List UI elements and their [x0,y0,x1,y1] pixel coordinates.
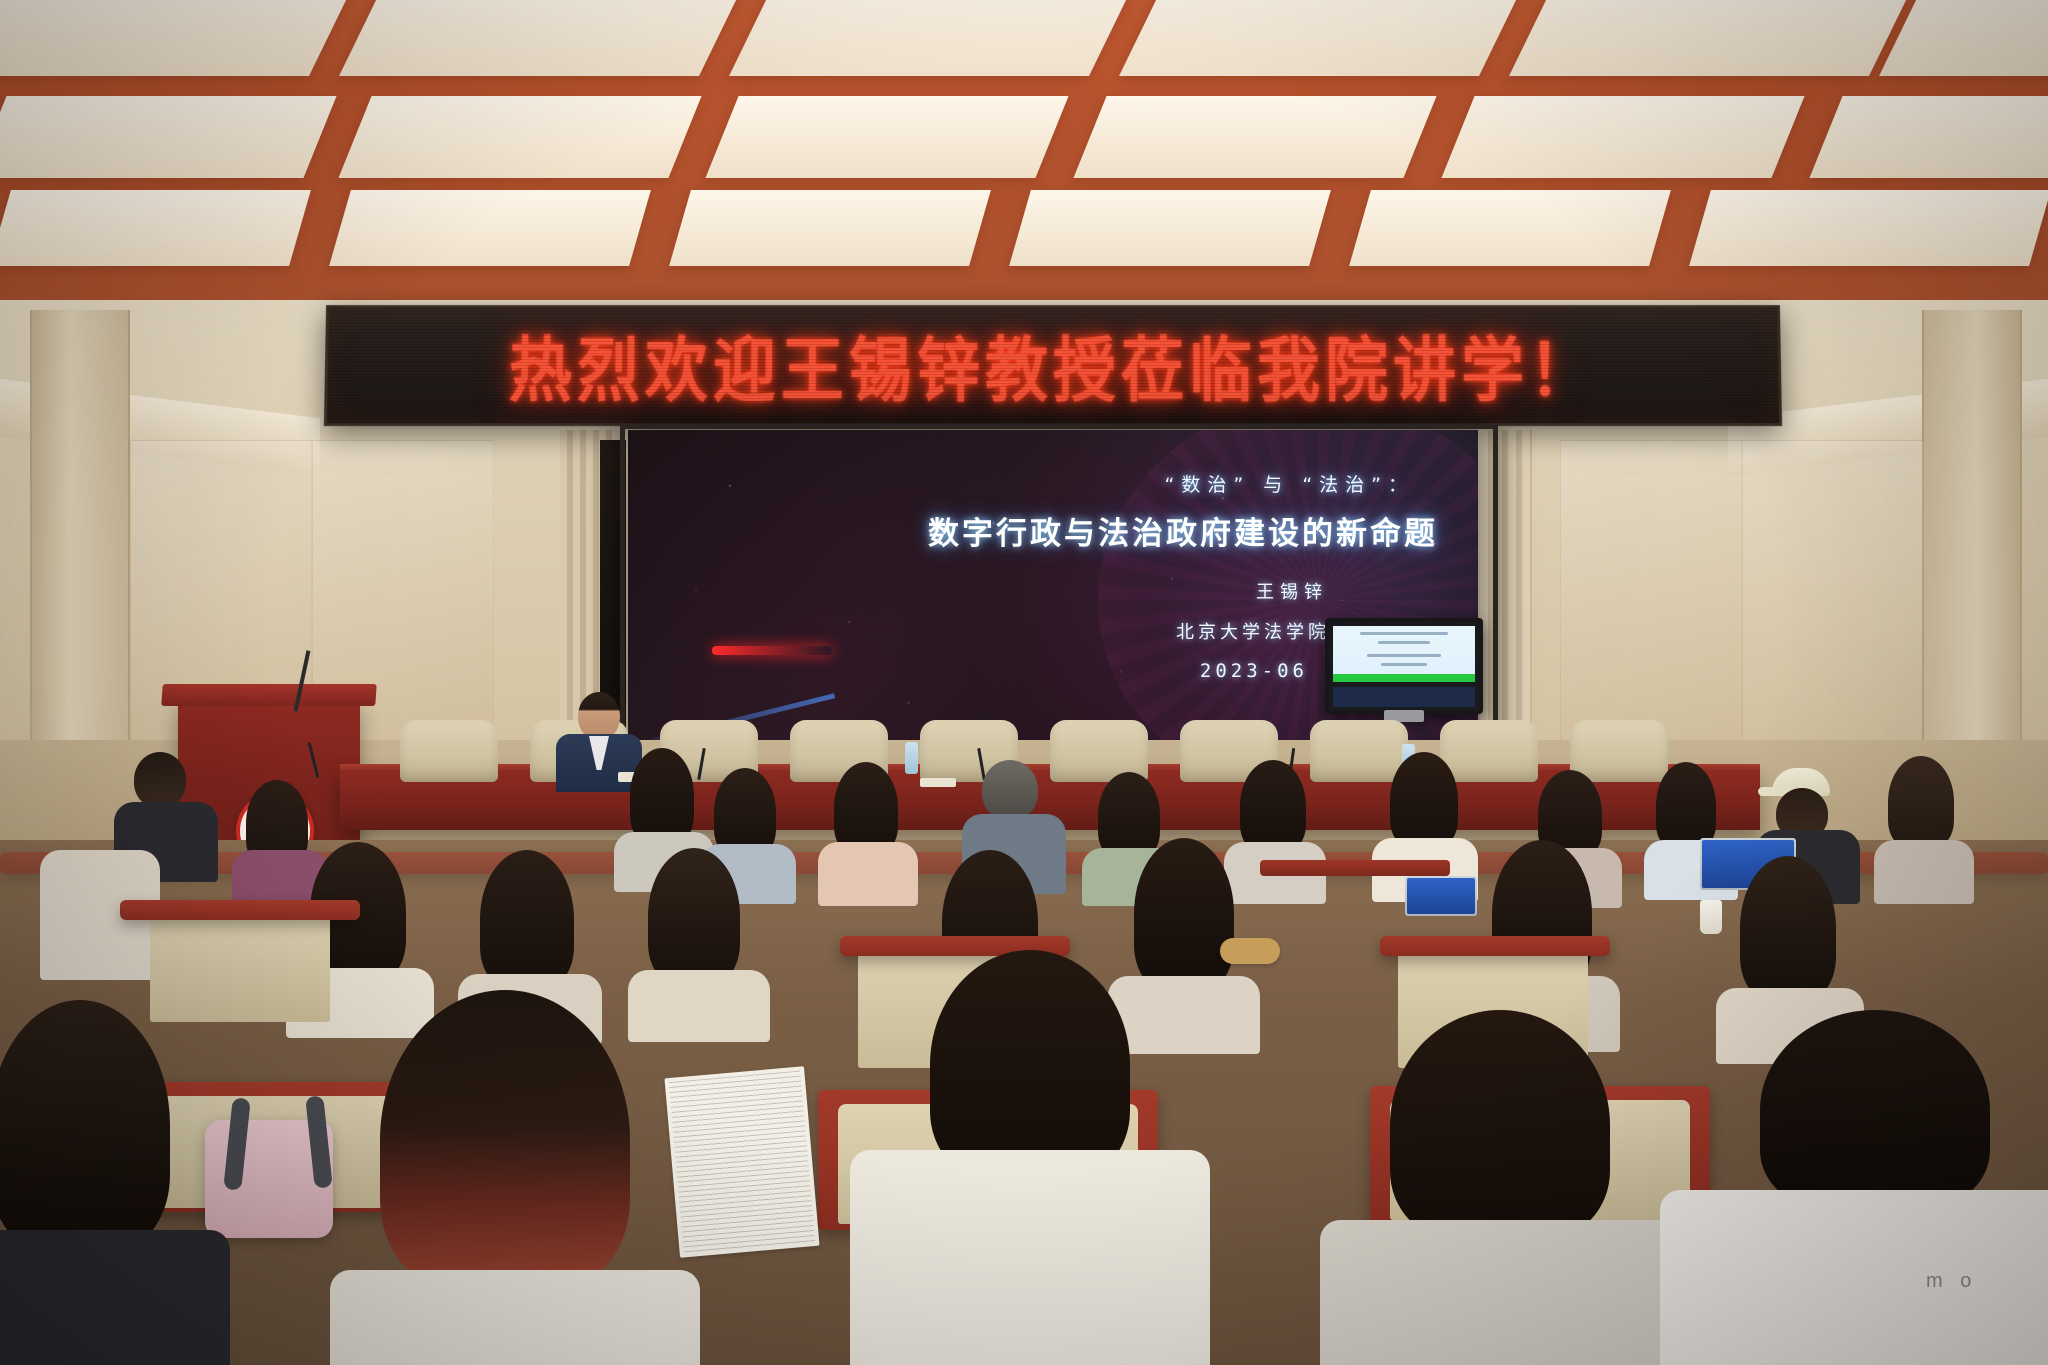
lectern-top-surface [161,684,377,706]
person-hair-dyed [380,990,630,1290]
monitor-green-bar [1333,674,1475,682]
person-hair [714,768,776,856]
audience-member [826,762,908,886]
monitor-text-line [1381,663,1427,666]
audience-member-foreground [1340,1010,1660,1365]
table-nameplate [920,778,956,787]
wall-column-left [30,310,130,740]
laptop-screen [1407,878,1475,914]
ceiling [0,0,2048,330]
slide-title: 数字行政与法治政府建设的新命题 [628,508,1438,553]
monitor-text-line [1360,632,1448,635]
ceiling-coffer [1809,96,2048,178]
person-head [134,752,186,808]
wall-panel [1560,440,1742,742]
seat-row [1380,936,1610,956]
ceiling-coffer [339,0,741,76]
seat-row [120,900,360,920]
ceiling-coffer [1509,0,1911,76]
slide-red-accent-bar [712,646,832,655]
person-torso [0,1230,230,1365]
laptop[interactable] [1405,876,1477,916]
person-hair [630,748,694,844]
ceiling-coffer [1009,190,1331,266]
person-hair [0,1000,170,1250]
person-hair [480,850,574,988]
led-welcome-banner: 热烈欢迎王锡锌教授莅临我院讲学！ [324,305,1782,426]
ceiling-coffer [329,190,651,266]
audience-member [1730,856,1848,1036]
person-torso [1320,1220,1690,1365]
lecture-hall-photo: 热烈欢迎王锡锌教授莅临我院讲学！ “数治” 与 “法治”： 数字行政与法治政府建… [0,0,2048,1365]
audience-member-foreground [880,950,1180,1365]
ceiling-coffer [338,96,701,178]
wall-column-right [1922,310,2022,740]
ceiling-coffer [1441,96,1804,178]
person-hair [930,950,1130,1180]
audience-member [1880,756,1966,886]
person-hair [1390,1010,1610,1240]
person-torso [818,842,918,906]
handout-text-lines [669,1071,815,1254]
paper-cup [1700,900,1722,934]
person-torso [330,1270,700,1365]
led-banner-text: 热烈欢迎王锡锌教授莅临我院讲学！ [508,315,1597,417]
ceiling-coffer [669,190,991,266]
person-hair [1656,762,1716,850]
slide-date: 2023-06 [628,660,1308,682]
slide-affiliation: 北京大学法学院教授 [628,618,1374,644]
person-hair [1240,760,1306,852]
person-hair [1760,1010,1990,1210]
hair-clip [1220,938,1280,964]
person-torso [1874,840,1974,904]
ceiling-coffer [0,96,337,178]
ceiling-coffer [0,190,311,266]
slide-subtitle: “数治” 与 “法治”： [628,470,1414,497]
ceiling-coffer [705,96,1068,178]
stage-chair [400,720,498,782]
printed-handout [664,1066,819,1258]
ceiling-coffer [1119,0,1521,76]
monitor-text-line [1378,641,1430,644]
ceiling-coffer [1073,96,1436,178]
presenter-monitor [1325,618,1483,714]
person-hair [1390,752,1458,848]
curtain-right [1480,430,1532,740]
person-hair [1888,756,1954,848]
ceiling-coffer [729,0,1131,76]
person-head [982,760,1038,820]
person-hair [834,762,898,854]
audience-member-foreground [1700,1010,2048,1365]
person-torso [850,1150,1210,1365]
ceiling-coffer [1879,0,2048,76]
person-hair [1740,856,1836,1000]
wall-panel [1742,440,1924,742]
audience-member [40,820,150,970]
presenter-head [578,692,620,740]
monitor-text-line [1367,654,1441,657]
audience-desk [1260,860,1450,876]
monitor-base-strip [1333,687,1475,707]
audience-member-foreground [0,1000,210,1365]
audience-member-foreground [350,990,680,1365]
ceiling-coffer [0,0,351,76]
ceiling-coffer [1349,190,1671,266]
shirt-logo-text: m o [1926,1270,2016,1292]
ceiling-coffer [1689,190,2048,266]
person-hair [648,848,740,984]
slide-author: 王锡锌 [628,578,1328,604]
